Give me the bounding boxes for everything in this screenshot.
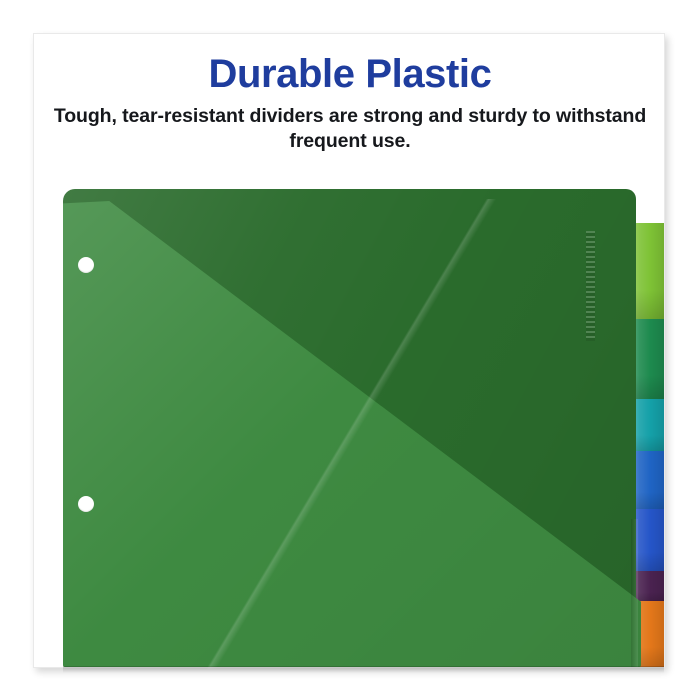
punch-hole <box>78 496 94 512</box>
pocket-fold-crease <box>631 519 638 667</box>
marketing-text-block: Durable Plastic Tough, tear-resistant di… <box>34 34 666 154</box>
punch-hole <box>78 257 94 273</box>
page-title: Durable Plastic <box>34 34 666 98</box>
product-photo <box>63 189 664 667</box>
product-image-card: Durable Plastic Tough, tear-resistant di… <box>33 33 665 668</box>
page-subtitle: Tough, tear-resistant dividers are stron… <box>34 98 666 154</box>
screenshot-stage: Durable Plastic Tough, tear-resistant di… <box>0 0 700 700</box>
reinforced-edge-texture <box>586 231 595 341</box>
product-drop-shadow <box>63 666 664 673</box>
